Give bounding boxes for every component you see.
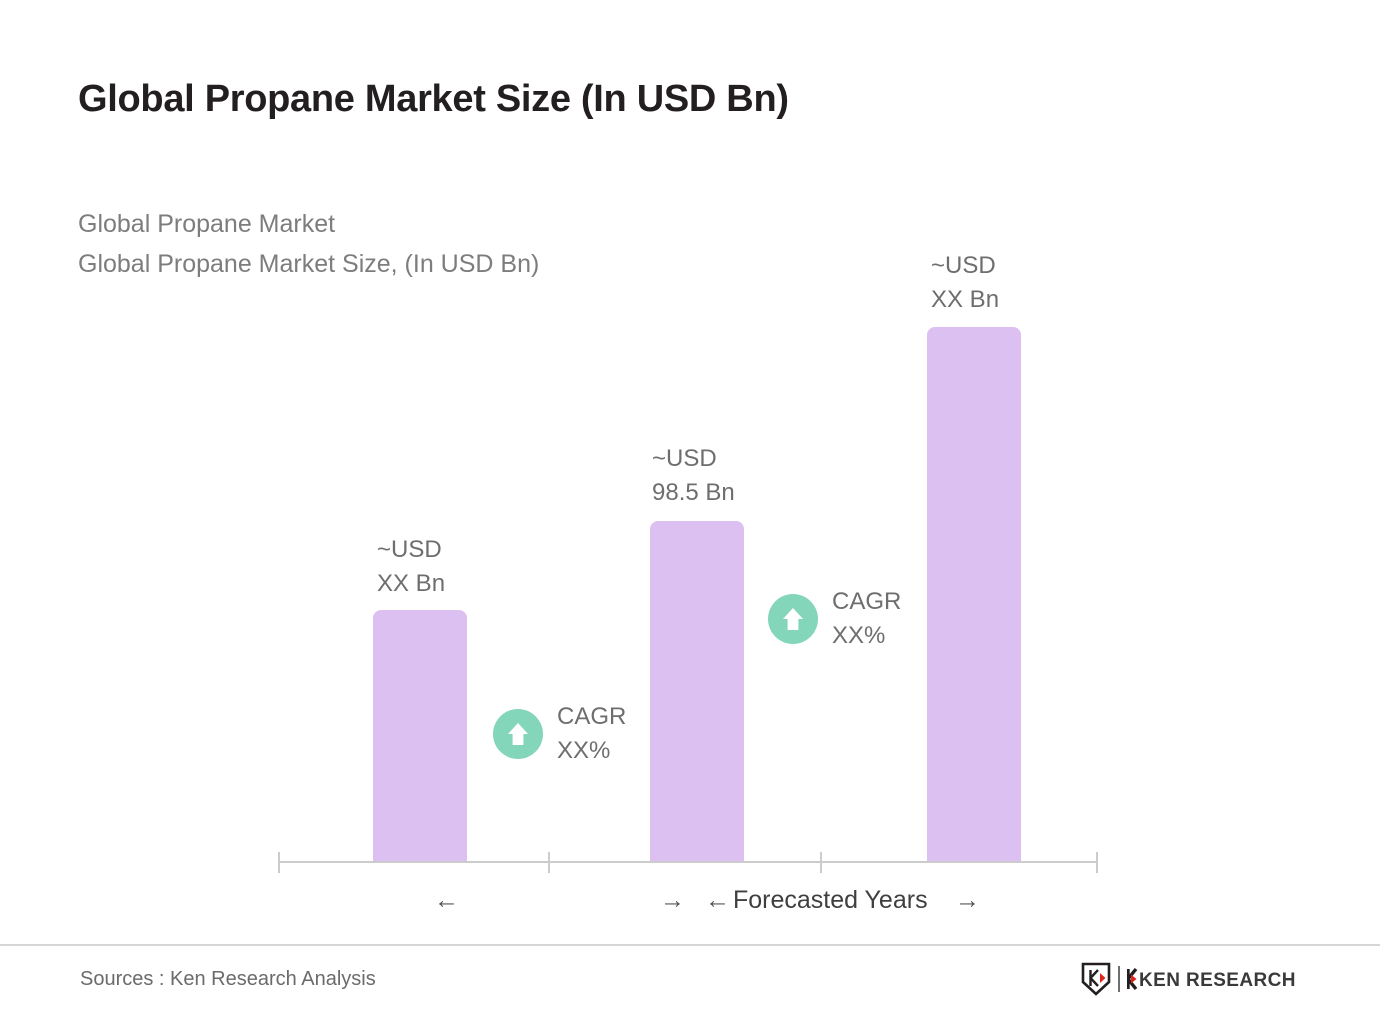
arrow-up-icon: [493, 709, 543, 759]
cagr-badge-1-text: CAGR XX%: [557, 700, 626, 768]
footer-divider: [0, 944, 1380, 946]
cagr-badge-2-line-2: XX%: [832, 619, 901, 653]
bar-value-label-2-line-2: 98.5 Bn: [652, 476, 735, 510]
cagr-badge-2-line-1: CAGR: [832, 585, 901, 619]
chart-subtitle-line-2: Global Propane Market Size, (In USD Bn): [78, 244, 539, 284]
cagr-badge-1[interactable]: CAGR XX%: [493, 700, 626, 768]
bar-value-label-1-line-1: ~USD: [377, 533, 445, 567]
cagr-badge-1-line-2: XX%: [557, 734, 626, 768]
bar-value-label-1: ~USD XX Bn: [377, 533, 445, 601]
ken-research-logo: KEN RESEARCH: [1081, 962, 1302, 996]
bar-value-label-3-line-2: XX Bn: [931, 283, 999, 317]
bar-value-label-2: ~USD 98.5 Bn: [652, 442, 735, 510]
logo-divider: [1118, 966, 1120, 992]
bar-chart-plot: ~USD XX Bn ~USD 98.5 Bn ~USD XX Bn CAGR …: [0, 0, 1380, 1035]
forecast-range-right-arrow: →: [955, 884, 980, 916]
cagr-badge-2-text: CAGR XX%: [832, 585, 901, 653]
page-title: Global Propane Market Size (In USD Bn): [78, 78, 789, 121]
bar-1[interactable]: [373, 610, 467, 862]
forecast-range-left-arrow: ←: [705, 884, 730, 916]
axis-tick-1: [278, 852, 280, 873]
axis-tick-3: [820, 852, 822, 873]
chart-subtitle: Global Propane Market Global Propane Mar…: [78, 204, 539, 284]
cagr-badge-1-line-1: CAGR: [557, 700, 626, 734]
bar-value-label-2-line-1: ~USD: [652, 442, 735, 476]
bar-value-label-3: ~USD XX Bn: [931, 249, 999, 317]
bar-3[interactable]: [927, 327, 1021, 862]
logo-wordmark-text: KEN RESEARCH: [1139, 970, 1296, 991]
ken-research-wordmark: KEN RESEARCH: [1127, 967, 1302, 991]
chart-subtitle-line-1: Global Propane Market: [78, 204, 539, 244]
sources-text: Sources : Ken Research Analysis: [80, 968, 376, 991]
bar-value-label-1-line-2: XX Bn: [377, 567, 445, 601]
arrow-up-icon: [768, 594, 818, 644]
slide-canvas: Global Propane Market Size (In USD Bn) G…: [0, 0, 1380, 1035]
historic-range-left-arrow: ←: [434, 884, 459, 916]
cagr-badge-2[interactable]: CAGR XX%: [768, 585, 901, 653]
historic-range-right-arrow: →: [660, 884, 685, 916]
forecasted-years-label: Forecasted Years: [733, 884, 928, 916]
ken-research-shield-icon: [1081, 962, 1111, 996]
bar-value-label-3-line-1: ~USD: [931, 249, 999, 283]
axis-tick-2: [548, 852, 550, 873]
bar-2[interactable]: [650, 521, 744, 862]
axis-tick-4: [1096, 852, 1098, 873]
